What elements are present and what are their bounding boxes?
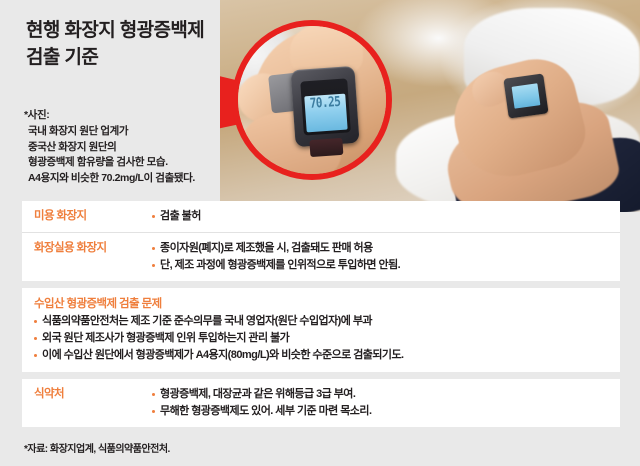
row-items: 형광증백제, 대장균과 같은 위해등급 3급 부여. 무해한 형광증백제도 있어… [152,386,610,420]
list-item: 종이자원(폐지)로 제조했을 시, 검출돼도 판매 허용 [152,240,610,257]
list-item: 식품의약품안전처는 제조 기준 준수의무를 국내 영업자(원단 수입업자)에 부… [34,313,610,330]
caption-line-1: *사진: [24,108,195,124]
list-item: 단, 제조 과정에 형광증백제를 인위적으로 투입하면 안됨. [152,257,610,274]
page-title-line1: 현행 화장지 형광증백제 [26,20,204,41]
magnifier-circle: 70.25 [232,20,392,180]
row-label-mfds: 식약처 [34,386,152,403]
list-item: 외국 원단 제조사가 형광증백제 인위 투입하는지 관리 불가 [34,330,610,347]
source-note: *자료: 화장지업계, 식품의약품안전처. [24,440,170,455]
list-item: 검출 불허 [152,208,610,225]
page-title-line2: 검출 기준 [26,45,204,72]
row-label-toilet-tissue: 화장실용 화장지 [34,240,152,257]
card-gap [22,372,620,379]
table-row: 화장실용 화장지 종이자원(폐지)로 제조했을 시, 검출돼도 판매 허용 단,… [22,233,620,281]
list-item: 이에 수입산 원단에서 형광증백제가 A4용지(80mg/L)와 비슷한 수준으… [34,347,610,364]
card-imported-issues: 수입산 형광증백제 검출 문제 식품의약품안전처는 제조 기준 준수의무를 국내… [22,288,620,372]
photo-caption: *사진: 국내 화장지 원단 업계가 중국산 화장지 원단의 형광증백제 함유량… [28,108,195,187]
table-row: 미용 화장지 검출 불허 [22,201,620,232]
table-row: 식약처 형광증백제, 대장균과 같은 위해등급 3급 부여. 무해한 형광증백제… [22,379,620,427]
device-strap [309,138,343,157]
list-item: 무해한 형광증백제도 있어. 세부 기준 마련 목소리. [152,403,610,420]
device-lcd: 70.25 [304,94,348,132]
section-heading: 수입산 형광증백제 검출 문제 [34,295,610,311]
infographic-root: 70.25 현행 화장지 형광증백제 검출 기준 *사진: 국내 화장지 원단 … [0,0,640,466]
device-screen: 70.25 [300,79,350,136]
row-items: 종이자원(폐지)로 제조했을 시, 검출돼도 판매 허용 단, 제조 과정에 형… [152,240,610,274]
row-items: 검출 불허 [152,208,610,225]
row-label-cosmetic-tissue: 미용 화장지 [34,208,152,225]
section-imported: 수입산 형광증백제 검출 문제 식품의약품안전처는 제조 기준 준수의무를 국내… [22,288,620,372]
content-table: 미용 화장지 검출 불허 화장실용 화장지 종이자원(폐지)로 제조했을 시, … [22,201,620,427]
caption-line-5: A4용지와 비슷한 70.2mg/L이 검출됐다. [28,171,195,187]
caption-line-4: 형광증백제 함유량을 검사한 모습. [28,155,195,171]
magnifier-photo: 70.25 [232,20,392,180]
caption-line-2: 국내 화장지 원단 업계가 [28,124,195,140]
card-mfds: 식약처 형광증백제, 대장균과 같은 위해등급 3급 부여. 무해한 형광증백제… [22,379,620,427]
card-gap [22,281,620,288]
page-title: 현행 화장지 형광증백제 검출 기준 [26,18,204,72]
device-reading-value: 70.25 [309,94,341,112]
list-item: 형광증백제, 대장균과 같은 위해등급 3급 부여. [152,386,610,403]
caption-line-3: 중국산 화장지 원단의 [28,140,195,156]
measuring-device: 70.25 [290,66,359,147]
card-consumer-tissue: 미용 화장지 검출 불허 화장실용 화장지 종이자원(폐지)로 제조했을 시, … [22,201,620,281]
